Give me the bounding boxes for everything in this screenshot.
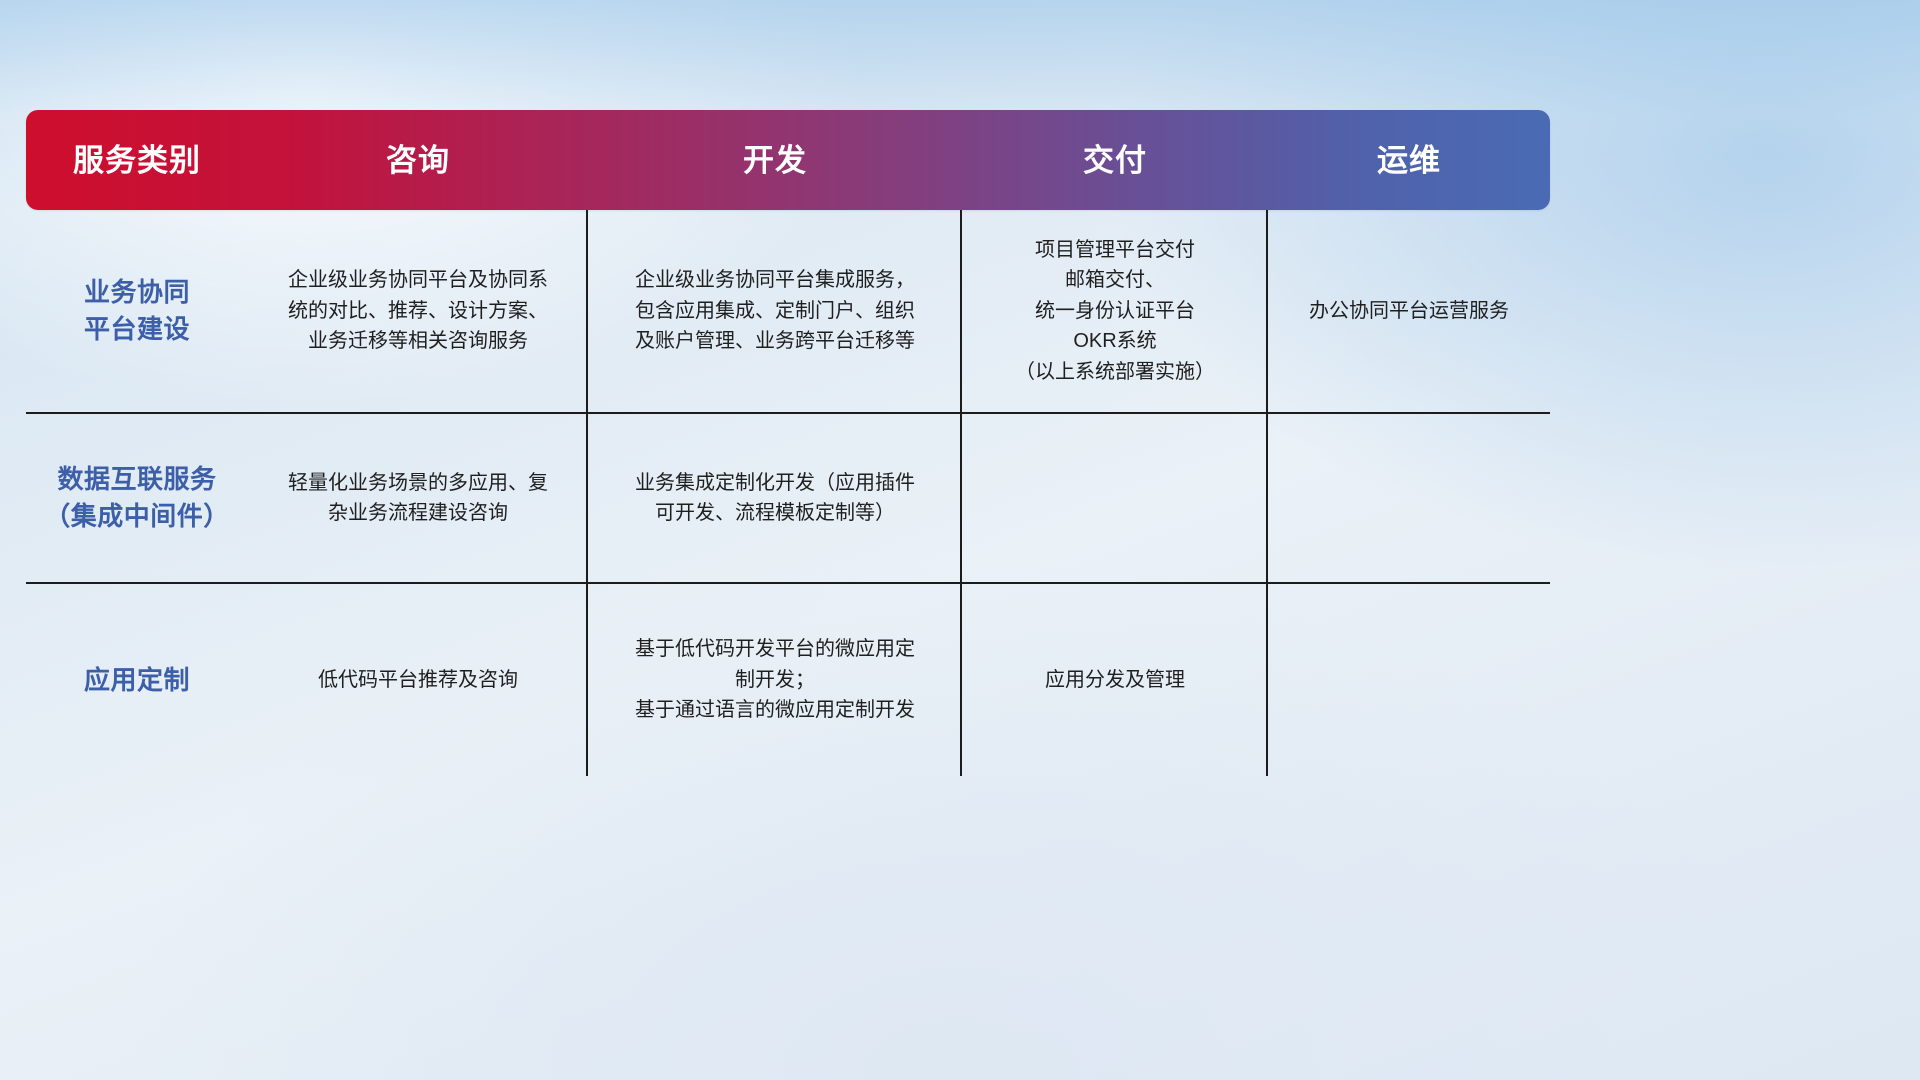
table-row: 数据互联服务 （集成中间件） 轻量化业务场景的多应用、复 杂业务流程建设咨询 业… — [26, 412, 1550, 582]
column-header-consulting: 咨询 — [248, 145, 588, 176]
cell-operations — [1268, 414, 1550, 582]
cell-operations: 办公协同平台运营服务 — [1268, 210, 1550, 412]
column-header-operations: 运维 — [1268, 145, 1550, 176]
cell-development: 业务集成定制化开发（应用插件 可开发、流程模板定制等） — [588, 414, 962, 582]
cell-delivery — [962, 414, 1268, 582]
column-header-service-category: 服务类别 — [26, 145, 248, 176]
column-header-development: 开发 — [588, 145, 962, 176]
table-row: 业务协同 平台建设 企业级业务协同平台及协同系 统的对比、推荐、设计方案、 业务… — [26, 210, 1550, 412]
cell-development: 基于低代码开发平台的微应用定 制开发； 基于通过语言的微应用定制开发 — [588, 584, 962, 776]
cell-category: 应用定制 — [26, 584, 248, 776]
page-root: 服务类别 咨询 开发 交付 运维 业务协同 平台建设 企业级业务协同平台及协同系… — [0, 0, 1920, 1080]
cell-delivery: 应用分发及管理 — [962, 584, 1268, 776]
cell-development: 企业级业务协同平台集成服务， 包含应用集成、定制门户、组织 及账户管理、业务跨平… — [588, 210, 962, 412]
cell-consulting: 轻量化业务场景的多应用、复 杂业务流程建设咨询 — [248, 414, 588, 582]
table-header-row: 服务类别 咨询 开发 交付 运维 — [26, 110, 1550, 210]
cell-consulting: 企业级业务协同平台及协同系 统的对比、推荐、设计方案、 业务迁移等相关咨询服务 — [248, 210, 588, 412]
service-matrix-table: 服务类别 咨询 开发 交付 运维 业务协同 平台建设 企业级业务协同平台及协同系… — [26, 110, 1550, 772]
column-header-delivery: 交付 — [962, 145, 1268, 176]
cell-category: 业务协同 平台建设 — [26, 210, 248, 412]
table-row: 应用定制 低代码平台推荐及咨询 基于低代码开发平台的微应用定 制开发； 基于通过… — [26, 582, 1550, 776]
cell-delivery: 项目管理平台交付 邮箱交付、 统一身份认证平台 OKR系统 （以上系统部署实施） — [962, 210, 1268, 412]
cell-consulting: 低代码平台推荐及咨询 — [248, 584, 588, 776]
cell-category: 数据互联服务 （集成中间件） — [26, 414, 248, 582]
table-body: 业务协同 平台建设 企业级业务协同平台及协同系 统的对比、推荐、设计方案、 业务… — [26, 210, 1550, 776]
cell-operations — [1268, 584, 1550, 776]
